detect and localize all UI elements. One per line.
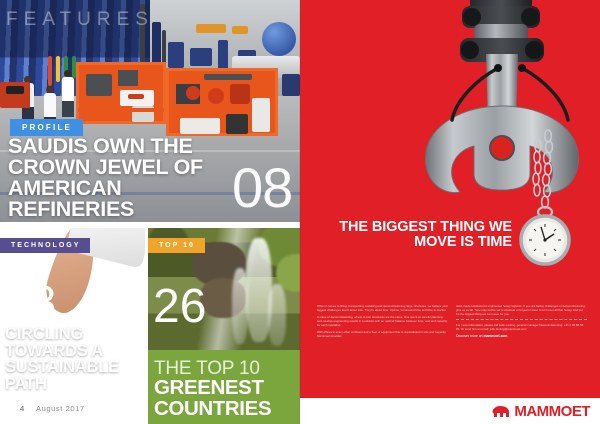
magazine-spread: FEATURES PROFILE SAUDIS OWN THE CROWN JE… (0, 0, 600, 424)
elephant-icon (492, 404, 512, 419)
left-page: FEATURES PROFILE SAUDIS OWN THE CROWN JE… (0, 0, 300, 424)
ad-website-link[interactable]: mammoet.com (484, 334, 508, 338)
feature-card-top10[interactable]: TOP 10 26 THE TOP 10 GREENEST COUNTRIES (148, 228, 300, 424)
top10-page-reference: 26 (153, 284, 206, 330)
ad-paragraph: With offices in every other continent an… (317, 330, 448, 338)
mammoet-logo[interactable]: MAMMOET (492, 403, 590, 420)
status-badge-top10[interactable]: TOP 10 (148, 238, 205, 253)
page-section-label: FEATURES (6, 9, 154, 31)
hero-title: SAUDIS OWN THE CROWN JEWEL OF AMERICAN R… (8, 136, 246, 220)
technology-title: CIRCLING TOWARDS A SUSTAINABLE PATH (5, 326, 141, 392)
page-gutter (299, 0, 301, 424)
ad-paragraph: tailor-made solutions for engineered hea… (456, 304, 587, 317)
ad-body-column-2: tailor-made solutions for engineered hea… (456, 304, 587, 341)
technology-page-reference: 18 (5, 280, 56, 324)
crane-hook-image (412, 0, 592, 296)
logo-text: MAMMOET (514, 403, 590, 420)
top10-title-panel: THE TOP 10 GREENEST COUNTRIES (148, 350, 300, 424)
ad-contact-info: For more information, please call Jelle … (456, 323, 587, 331)
hero-feature-card[interactable]: FEATURES PROFILE SAUDIS OWN THE CROWN JE… (0, 0, 300, 222)
advertisement-page: THE BIGGEST THING WE MOVE IS TIME When i… (300, 0, 600, 424)
ad-body-copy: When it comes to lifting, transporting, … (317, 304, 587, 341)
folio-issue-date: August 2017 (36, 404, 85, 413)
status-badge-technology[interactable]: TECHNOLOGY (0, 238, 90, 253)
ad-discover-line[interactable]: Discover more on mammoet.com (456, 334, 587, 338)
ad-body-column-1: When it comes to lifting, transporting, … (317, 304, 448, 341)
ad-headline: THE BIGGEST THING WE MOVE IS TIME (300, 220, 512, 249)
ad-discover-prefix: Discover more on (456, 334, 484, 338)
folio-page-number: 4 (20, 404, 24, 413)
divider (456, 319, 587, 320)
page-footer: 4 August 2017 (0, 398, 145, 424)
ad-paragraph: When it comes to lifting, transporting, … (317, 304, 448, 312)
ad-paragraph: In case of decommissioning, where to tur… (317, 315, 448, 328)
top10-title-bold: GREENEST COUNTRIES (154, 378, 300, 419)
hero-page-reference: 08 (232, 160, 292, 216)
ad-logo-band: MAMMOET (300, 398, 600, 424)
feature-card-technology[interactable]: TECHNOLOGY 18 CIRCLING TOWARDS A SUSTAIN… (0, 228, 145, 396)
